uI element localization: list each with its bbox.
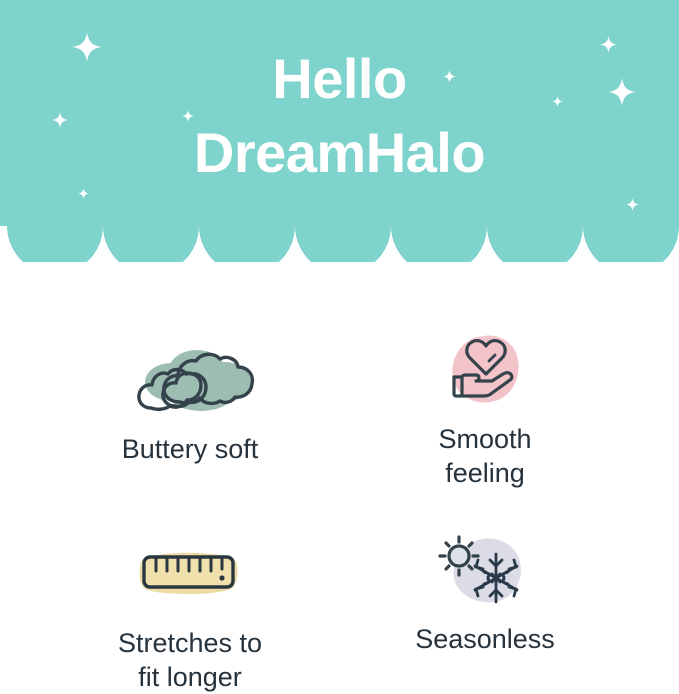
feature-item-seasonless: Seasonless [340,530,630,656]
ruler-dot [219,575,224,580]
feature-icon-wrap [135,534,245,614]
feature-label: Seasonless [415,622,555,656]
header-banner: Hello DreamHalo [0,0,679,262]
feature-label: Smooth feeling [438,422,531,490]
feature-label: Buttery soft [122,432,259,466]
cloud-icon [115,340,265,420]
sparkle-small-left-icon [52,112,68,128]
feature-item-stretches: Stretches to fit longer [45,534,335,694]
sparkle-large-left-icon [72,32,102,62]
feature-icon-wrap [115,340,265,420]
sun-snowflake-icon [437,530,533,610]
feature-icon-wrap [437,530,533,610]
heart-in-hand-icon [440,330,530,410]
sparkle-large-right-icon [608,78,636,106]
feature-icon-wrap [440,330,530,410]
feature-label: Stretches to fit longer [118,626,262,694]
sparkle-tiny-mid-icon [182,110,194,122]
sparkle-small-mid-icon [443,70,456,83]
feature-grid: Buttery soft Smooth feeling [0,262,679,676]
sparkle-tiny-right-icon [552,96,563,107]
feature-item-smooth-feeling: Smooth feeling [340,330,630,490]
sun-part [440,537,478,575]
ruler-icon [135,546,245,602]
sparkle-tiny-lower-icon [626,198,639,211]
feature-item-buttery-soft: Buttery soft [45,340,335,466]
sparkle-small-upper-icon [600,36,617,53]
sparkle-tiny-left-icon [78,188,89,199]
ruler-ticks [156,557,222,571]
